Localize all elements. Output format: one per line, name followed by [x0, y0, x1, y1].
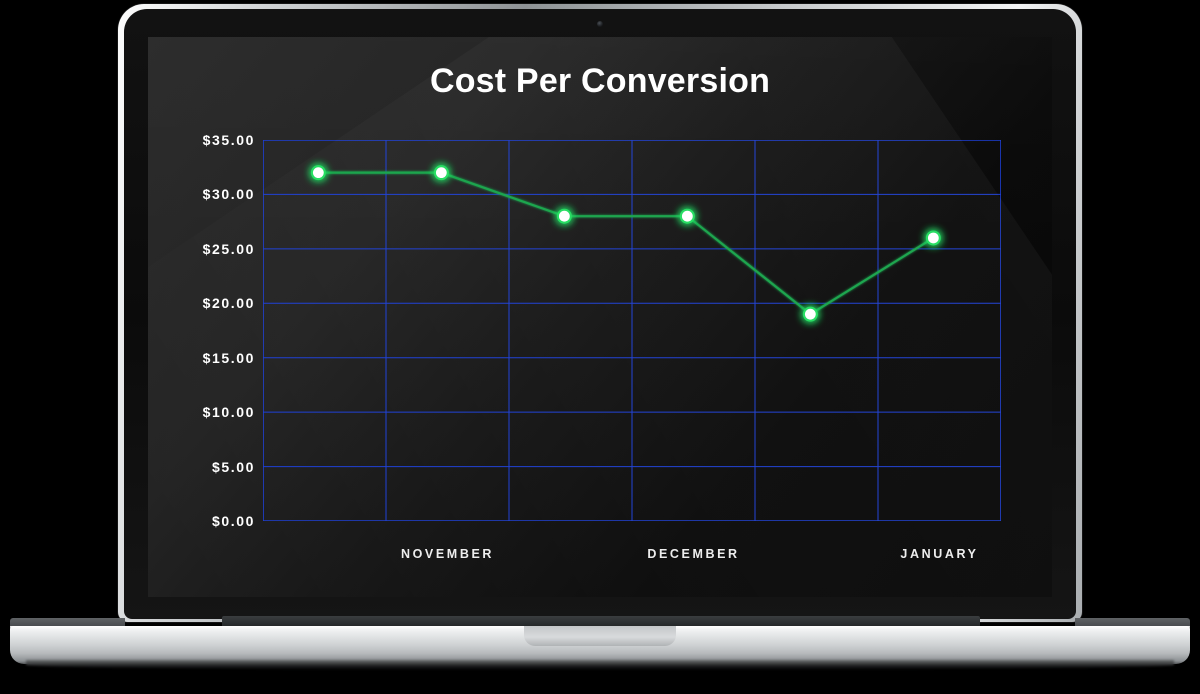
data-point-marker[interactable] [436, 167, 447, 178]
series-line-group [318, 173, 933, 315]
x-axis-label: DECEMBER [647, 547, 739, 561]
data-point-marker[interactable] [682, 211, 693, 222]
chart-title: Cost Per Conversion [148, 62, 1052, 101]
chart-plot-area [263, 140, 1001, 521]
x-axis-tick-labels: NOVEMBERDECEMBERJANUARY [148, 541, 1052, 571]
chart-series-layer [239, 116, 1025, 545]
data-point-marker[interactable] [313, 167, 324, 178]
laptop-base-shadow [26, 660, 1174, 670]
laptop-base-notch [524, 626, 676, 646]
x-axis-label: NOVEMBER [401, 547, 494, 561]
screenshot-stage: Cost Per Conversion $35.00$30.00$25.00$2… [0, 0, 1200, 694]
series-line [318, 173, 933, 315]
series-marker-group [311, 165, 941, 322]
webcam-icon [597, 21, 603, 27]
data-point-marker[interactable] [928, 233, 939, 244]
laptop-screen: Cost Per Conversion $35.00$30.00$25.00$2… [148, 37, 1052, 597]
data-point-marker[interactable] [805, 309, 816, 320]
data-point-marker[interactable] [559, 211, 570, 222]
x-axis-label: JANUARY [900, 547, 978, 561]
